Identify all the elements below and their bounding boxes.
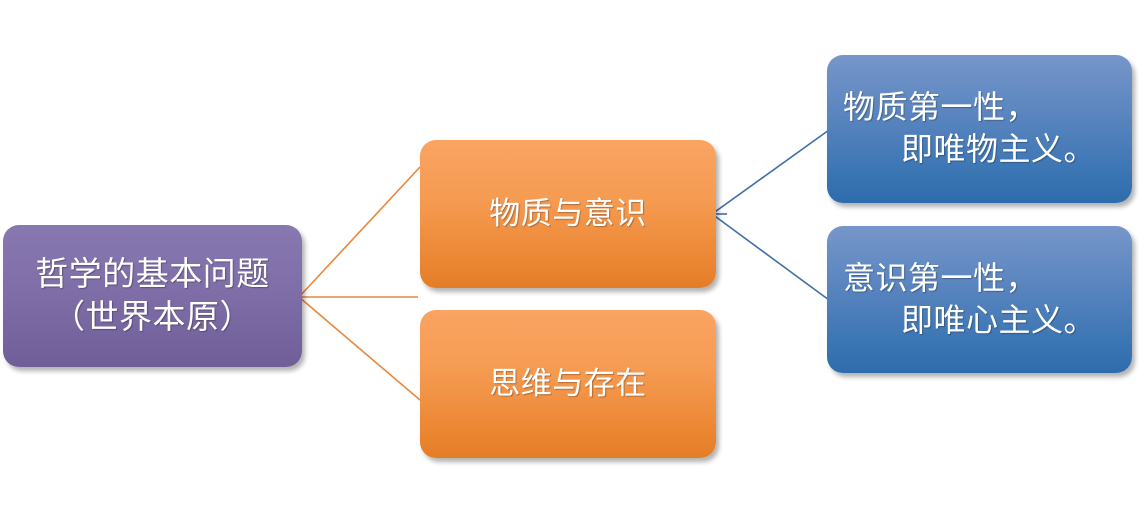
- node-root-question[interactable]: 哲学的基本问题 （世界本原）: [3, 225, 302, 367]
- diagram-canvas: 哲学的基本问题 （世界本原） 物质与意识 思维与存在 物质第一性， 即唯物主义。…: [0, 0, 1147, 512]
- node-leaf-1-line-2: 即唯心主义。: [843, 300, 1096, 342]
- node-leaf-idealism[interactable]: 意识第一性， 即唯心主义。: [827, 226, 1132, 373]
- node-branch-matter-consciousness[interactable]: 物质与意识: [420, 140, 716, 288]
- node-root-line-2: （世界本原）: [52, 296, 253, 339]
- node-root-line-1: 哲学的基本问题: [35, 253, 270, 296]
- node-branch-0-label: 物质与意识: [489, 194, 647, 234]
- node-leaf-0-line-2: 即唯物主义。: [843, 129, 1096, 171]
- node-leaf-0-line-1: 物质第一性，: [843, 87, 1038, 129]
- connector-branch-to-leaf-1: [712, 214, 829, 300]
- connector-root-to-branch-0: [299, 167, 420, 297]
- connector-root-to-branch-1: [299, 297, 420, 400]
- connector-branch-to-leaf-0: [712, 130, 829, 214]
- node-leaf-1-line-1: 意识第一性，: [843, 258, 1038, 300]
- node-branch-thinking-being[interactable]: 思维与存在: [420, 310, 716, 458]
- node-leaf-materialism[interactable]: 物质第一性， 即唯物主义。: [827, 55, 1132, 203]
- node-branch-1-label: 思维与存在: [489, 364, 647, 404]
